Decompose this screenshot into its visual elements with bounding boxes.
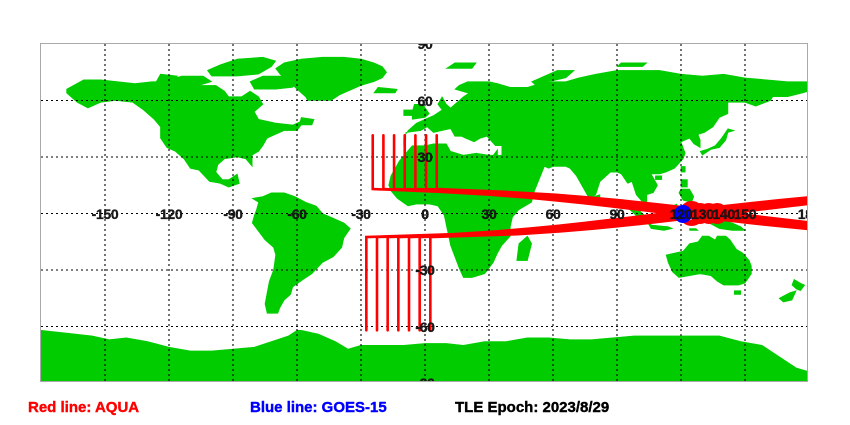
legend-tle-epoch: TLE Epoch: 2023/8/29 [455, 395, 609, 421]
landmass-australia [666, 236, 751, 285]
lon-tick-label-30: 30 [482, 207, 497, 221]
landmass-japan [700, 129, 734, 155]
landmass-timor [690, 229, 699, 231]
landmass-nz_north [792, 279, 805, 290]
lon-tick-label--90: -90 [223, 207, 242, 221]
lon-tick-label-0: 0 [421, 207, 429, 221]
lat-tick-label-60: 60 [418, 94, 433, 108]
lat-tick-label--30: -30 [415, 263, 434, 277]
lon-tick-label-150: 150 [734, 207, 756, 221]
lon-tick-label-60: 60 [546, 207, 561, 221]
landmass-luzon [681, 180, 687, 188]
lon-tick-label-120: 120 [670, 207, 692, 221]
landmass-severnaya [617, 63, 647, 67]
legend-red-line-aqua: Red line: AQUA [28, 395, 139, 421]
landmass-banks [156, 74, 177, 82]
landmass-ireland [404, 110, 413, 116]
lon-tick-label--150: -150 [92, 207, 119, 221]
landmass-iceland [374, 87, 397, 93]
lat-tick-label--90: -90 [415, 376, 434, 382]
landmass-madagascar [517, 236, 532, 260]
lat-tick-label--60: -60 [415, 320, 434, 334]
lon-tick-label-130: 130 [691, 207, 713, 221]
legend-blue-line-goes15: Blue line: GOES-15 [250, 395, 387, 421]
landmass-nz_south [779, 291, 796, 302]
map-plot-area: 9060300-30-60-90-30030609012013014015018… [40, 43, 808, 382]
lon-tick-label-180: 180 [798, 207, 808, 221]
lat-tick-label-30: 30 [418, 150, 433, 164]
lon-tick-label-140: 140 [712, 207, 734, 221]
lon-tick-label-90: 90 [610, 207, 625, 221]
lon-tick-label--30: -30 [351, 207, 370, 221]
landmass-taiwan [681, 166, 685, 172]
landmass-ellesmere [207, 57, 275, 76]
lon-tick-label--120: -120 [156, 207, 183, 221]
landmass-hainan [655, 176, 661, 180]
satellite-ground-track-map: 9060300-30-60-90-30030609012013014015018… [0, 0, 850, 425]
landmass-svalbard [446, 63, 476, 69]
landmass-tasmania [734, 291, 740, 295]
landmass-greenland [276, 57, 387, 100]
lon-tick-label--60: -60 [287, 207, 306, 221]
legend: Red line: AQUA Blue line: GOES-15 TLE Ep… [0, 395, 850, 421]
landmass-northAmerica [67, 80, 306, 187]
lat-tick-label-90: 90 [418, 43, 433, 51]
landmass-java [649, 225, 672, 231]
